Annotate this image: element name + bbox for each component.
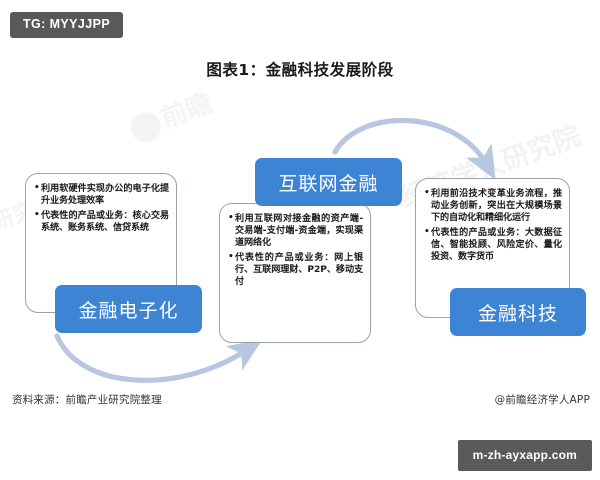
stage-label-1: 金融电子化	[55, 285, 202, 333]
brand-watermark-label: 前瞻	[157, 87, 216, 133]
list-item: 利用互联网对接金融的资产端-交易端-支付端-资金端，实现渠道网络化	[228, 213, 363, 249]
attribution-note: @前瞻经济学人APP	[495, 392, 590, 407]
list-item: 代表性的产品或业务：核心交易系统、账务系统、信贷系统	[34, 210, 169, 234]
list-item: 利用软硬件实现办公的电子化提升业务处理效率	[34, 183, 169, 207]
stage-2-bullet-list: 利用互联网对接金融的资产端-交易端-支付端-资金端，实现渠道网络化 代表性的产品…	[220, 204, 370, 288]
brand-watermark: 前瞻	[124, 83, 217, 147]
arrow-stage1-to-stage2	[57, 336, 248, 380]
stage-1-bullet-list: 利用软硬件实现办公的电子化提升业务处理效率 代表性的产品或业务：核心交易系统、账…	[26, 174, 176, 234]
brand-watermark-dot	[127, 108, 165, 146]
stage-label-2: 互联网金融	[255, 158, 402, 206]
stage-label-3: 金融科技	[450, 288, 586, 336]
tg-badge: TG: MYYJJPP	[10, 12, 123, 38]
page-title: 图表1：金融科技发展阶段	[0, 58, 600, 80]
stage-3-bullet-list: 利用前沿技术变革业务流程，推动业务创新，突出在大规模场景下的自动化和精细化运行 …	[416, 179, 569, 263]
stage-card-2: 利用互联网对接金融的资产端-交易端-支付端-资金端，实现渠道网络化 代表性的产品…	[219, 203, 371, 343]
list-item: 代表性的产品或业务：大数据征信、智能投顾、风险定价、量化投资、数字货币	[424, 227, 562, 263]
site-badge: m-zh-ayxapp.com	[458, 440, 592, 471]
infographic-canvas: 前瞻 经济学人研究院 研究院 TG: MYYJJPP 图表1：金融科技发展阶段 …	[0, 0, 600, 480]
source-note: 资料来源：前瞻产业研究院整理	[12, 392, 162, 407]
list-item: 代表性的产品或业务：网上银行、互联网理财、P2P、移动支付	[228, 252, 363, 288]
list-item: 利用前沿技术变革业务流程，推动业务创新，突出在大规模场景下的自动化和精细化运行	[424, 188, 562, 224]
